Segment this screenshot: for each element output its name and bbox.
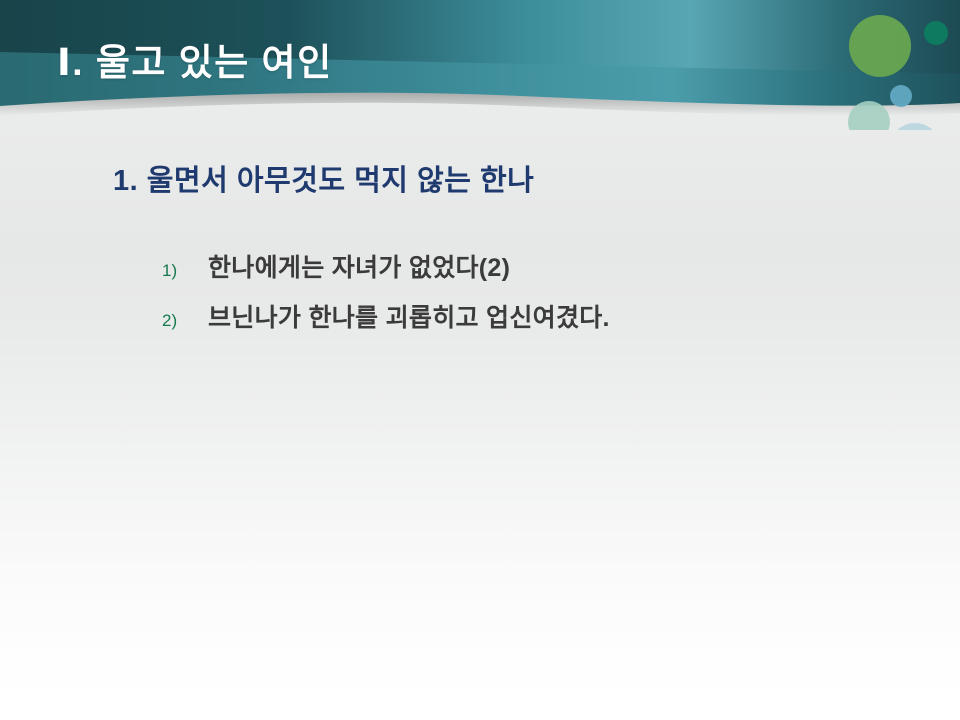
level2-bullet-list: 1) 한나에게는 자녀가 없었다(2) 2) 브닌나가 한나를 괴롭히고 업신여… — [162, 248, 610, 348]
level2-marker-2: 2) — [162, 311, 208, 331]
level1-bullet-1: 1. 울면서 아무것도 먹지 않는 한나 — [113, 157, 534, 199]
large-green-circle — [849, 15, 911, 77]
level2-bullet-2: 2) 브닌나가 한나를 괴롭히고 업신여겼다. — [162, 298, 610, 334]
small-blue-circle — [890, 85, 912, 107]
small-darkgreen-circle — [924, 21, 948, 45]
presentation-slide: Ⅰ. 울고 있는 여인 1. 울면서 아무것도 먹지 않는 한나 1) 한나에게… — [0, 0, 960, 720]
level2-bullet-1: 1) 한나에게는 자녀가 없었다(2) — [162, 248, 610, 284]
level2-text-2: 브닌나가 한나를 괴롭히고 업신여겼다. — [208, 298, 610, 334]
level2-text-1: 한나에게는 자녀가 없었다(2) — [208, 248, 510, 284]
large-lightblue-circle — [889, 123, 941, 130]
slide-title: Ⅰ. 울고 있는 여인 — [57, 32, 333, 86]
level2-marker-1: 1) — [162, 261, 208, 281]
